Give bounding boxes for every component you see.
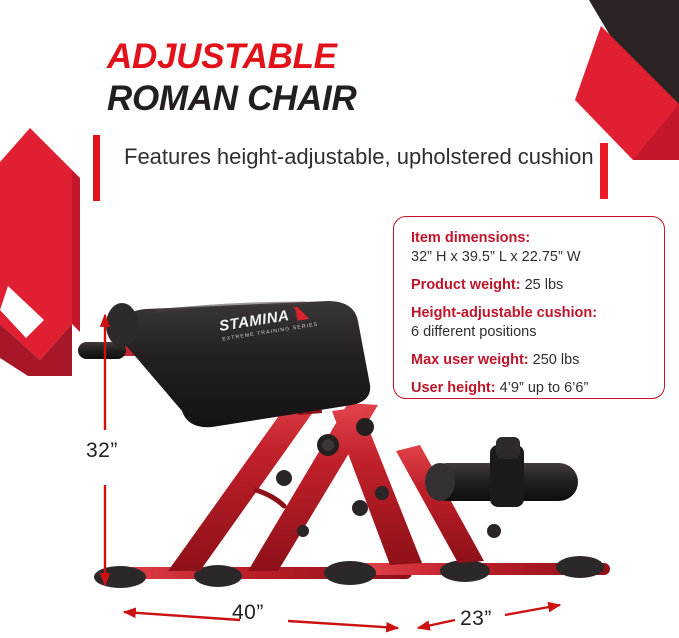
dimension-label-width: 23” (460, 607, 492, 631)
top-right-red-band-decoration (529, 0, 679, 160)
subtitle-left-accent-bar (93, 135, 100, 201)
top-right-dark-triangle-decoration (529, 0, 679, 152)
spec-label-item-dimensions: Item dimensions: (411, 230, 530, 246)
infographic-canvas: ADJUSTABLE ROMAN CHAIR Features height-a… (0, 0, 679, 638)
dimension-line-width-right (505, 605, 560, 615)
page-title: ADJUSTABLE ROMAN CHAIR (107, 36, 356, 120)
subtitle-right-accent-bar (600, 143, 608, 199)
dimension-line-length-left (124, 612, 240, 620)
spec-row-item-dimensions: Item dimensions: 32” H x 39.5” L x 22.75… (411, 229, 664, 267)
dimension-label-length: 40” (232, 601, 264, 625)
dimension-label-height: 32” (86, 439, 118, 463)
dimension-line-length-right (288, 621, 398, 628)
headline-line-2: ROMAN CHAIR (107, 78, 356, 120)
dimension-line-width-left (418, 620, 455, 628)
subtitle-text: Features height-adjustable, upholstered … (124, 141, 594, 172)
spec-value-item-dimensions: 32” H x 39.5” L x 22.75” W (411, 248, 664, 267)
headline-line-1: ADJUSTABLE (107, 36, 356, 78)
